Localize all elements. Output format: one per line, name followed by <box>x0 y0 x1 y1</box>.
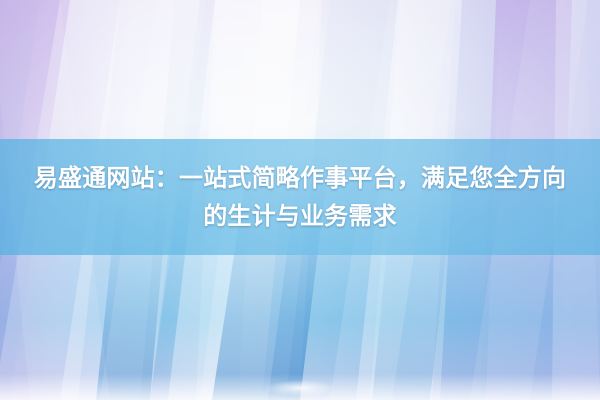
caption-line-1: 易盛通网站：一站式简略作事平台，满足您全方向 <box>34 159 566 197</box>
caption-line-2: 的生计与业务需求 <box>203 197 397 235</box>
bottom-center-bloom <box>265 380 335 396</box>
banner-caption: 易盛通网站：一站式简略作事平台，满足您全方向 的生计与业务需求 <box>0 139 600 255</box>
promo-banner: 易盛通网站：一站式简略作事平台，满足您全方向 的生计与业务需求 <box>0 0 600 400</box>
